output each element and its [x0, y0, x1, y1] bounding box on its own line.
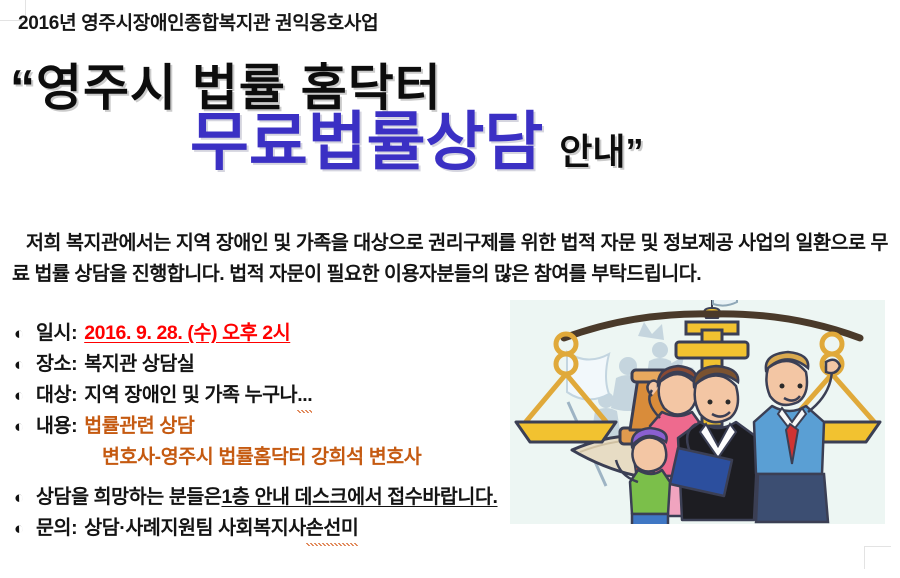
info-label-date: 일시:: [36, 318, 77, 349]
info-value-target: 지역 장애인 및 가족 누구나: [84, 380, 297, 411]
info-value-place: 복지관 상담실: [84, 349, 194, 380]
half-circle-bullet-icon: ◐: [14, 349, 36, 380]
info-value-content: 법률관련 상담: [84, 411, 194, 442]
info-label-content: 내용:: [36, 411, 77, 442]
poster-intro-paragraph: 저희 복지관에서는 지역 장애인 및 가족을 대상으로 권리구제를 위한 법적 …: [12, 228, 888, 290]
half-circle-bullet-icon: ◐: [14, 318, 36, 349]
half-circle-bullet-icon: ◐: [14, 380, 36, 411]
poster-canvas: 2016년 영주시장애인종합복지관 권익옹호사업 “영주시 법률 홈닥터 무료법…: [0, 0, 900, 578]
poster-title-main: 무료법률상담: [190, 110, 543, 174]
poster-title-line-2: 무료법률상담 안내”: [190, 110, 644, 174]
info-label-contact: 문의:: [36, 513, 77, 544]
info-value-lawyer: 변호사-영주시 법률홈닥터 강희석 변호사: [14, 442, 421, 473]
info-value-reception-underlined: 1층 안내 데스크에서 접수바랍니다.: [221, 482, 497, 513]
info-value-contact-team: 상담·사례지원팀 사회복지사: [84, 513, 306, 544]
info-value-reception-prefix: 상담을 희망하는 분들은: [36, 482, 221, 513]
poster-title-suffix: 안내”: [559, 134, 643, 170]
half-circle-bullet-icon: ◐: [14, 411, 36, 442]
info-value-date: 2016. 9. 28. (수) 오후 2시: [84, 318, 290, 349]
corner-guide-bottom-right: [864, 546, 891, 569]
poster-eyebrow-text: 2016년 영주시장애인종합복지관 권익옹호사업: [18, 8, 378, 35]
scales-of-justice-with-people-illustration: [510, 300, 885, 524]
info-label-place: 장소:: [36, 349, 77, 380]
half-circle-bullet-icon: ◐: [14, 513, 36, 544]
info-value-contact-name: 손선미: [306, 513, 359, 546]
info-label-target: 대상:: [36, 380, 77, 411]
info-value-target-ellipsis: ...: [297, 380, 312, 413]
half-circle-bullet-icon: ◐: [14, 482, 36, 513]
poster-title-block: “영주시 법률 홈닥터 무료법률상담 안내”: [0, 48, 900, 213]
